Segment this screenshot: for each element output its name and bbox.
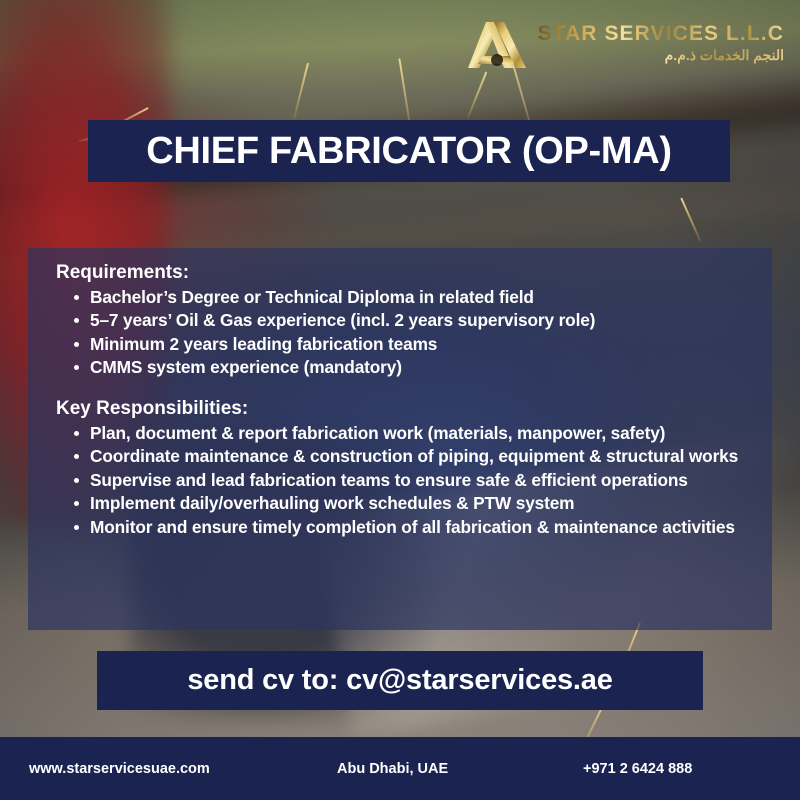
list-item: Supervise and lead fabrication teams to …	[72, 469, 754, 491]
content-panel: Requirements: Bachelor’s Degree or Techn…	[28, 248, 772, 630]
brand-logo-text: STAR SERVICES L.L.C النجم الخدمات ذ.م.م	[538, 22, 785, 64]
page-title: CHIEF FABRICATOR (OP-MA)	[146, 130, 671, 173]
list-item: Minimum 2 years leading fabrication team…	[72, 333, 754, 355]
job-posting-poster: STAR SERVICES L.L.C النجم الخدمات ذ.م.م …	[0, 0, 800, 800]
brand-name-ar: النجم الخدمات ذ.م.م	[538, 47, 785, 64]
list-item: Implement daily/overhauling work schedul…	[72, 492, 754, 514]
star-services-triangle-monogram-icon	[464, 14, 530, 72]
footer-location: Abu Dhabi, UAE	[337, 761, 448, 777]
brand-name-en: STAR SERVICES L.L.C	[538, 22, 785, 46]
list-item: Coordinate maintenance & construction of…	[72, 445, 754, 467]
responsibilities-list: Plan, document & report fabrication work…	[46, 422, 754, 538]
brand-logo: STAR SERVICES L.L.C النجم الخدمات ذ.م.م	[464, 14, 785, 72]
list-item: Monitor and ensure timely completion of …	[72, 516, 754, 538]
list-item: 5–7 years’ Oil & Gas experience (incl. 2…	[72, 309, 754, 331]
list-item: CMMS system experience (mandatory)	[72, 356, 754, 378]
job-title-banner: CHIEF FABRICATOR (OP-MA)	[88, 120, 730, 182]
responsibilities-heading: Key Responsibilities:	[56, 398, 754, 420]
footer-bar: www.starservicesuae.com Abu Dhabi, UAE +…	[0, 737, 800, 800]
send-cv-banner[interactable]: send cv to: cv@starservices.ae	[97, 651, 703, 710]
list-item: Plan, document & report fabrication work…	[72, 422, 754, 444]
footer-website[interactable]: www.starservicesuae.com	[29, 761, 210, 777]
requirements-heading: Requirements:	[56, 262, 754, 284]
list-item: Bachelor’s Degree or Technical Diploma i…	[72, 286, 754, 308]
send-cv-text[interactable]: send cv to: cv@starservices.ae	[187, 664, 612, 697]
footer-phone[interactable]: +971 2 6424 888	[583, 761, 692, 777]
section-divider	[46, 380, 754, 398]
requirements-list: Bachelor’s Degree or Technical Diploma i…	[46, 286, 754, 379]
